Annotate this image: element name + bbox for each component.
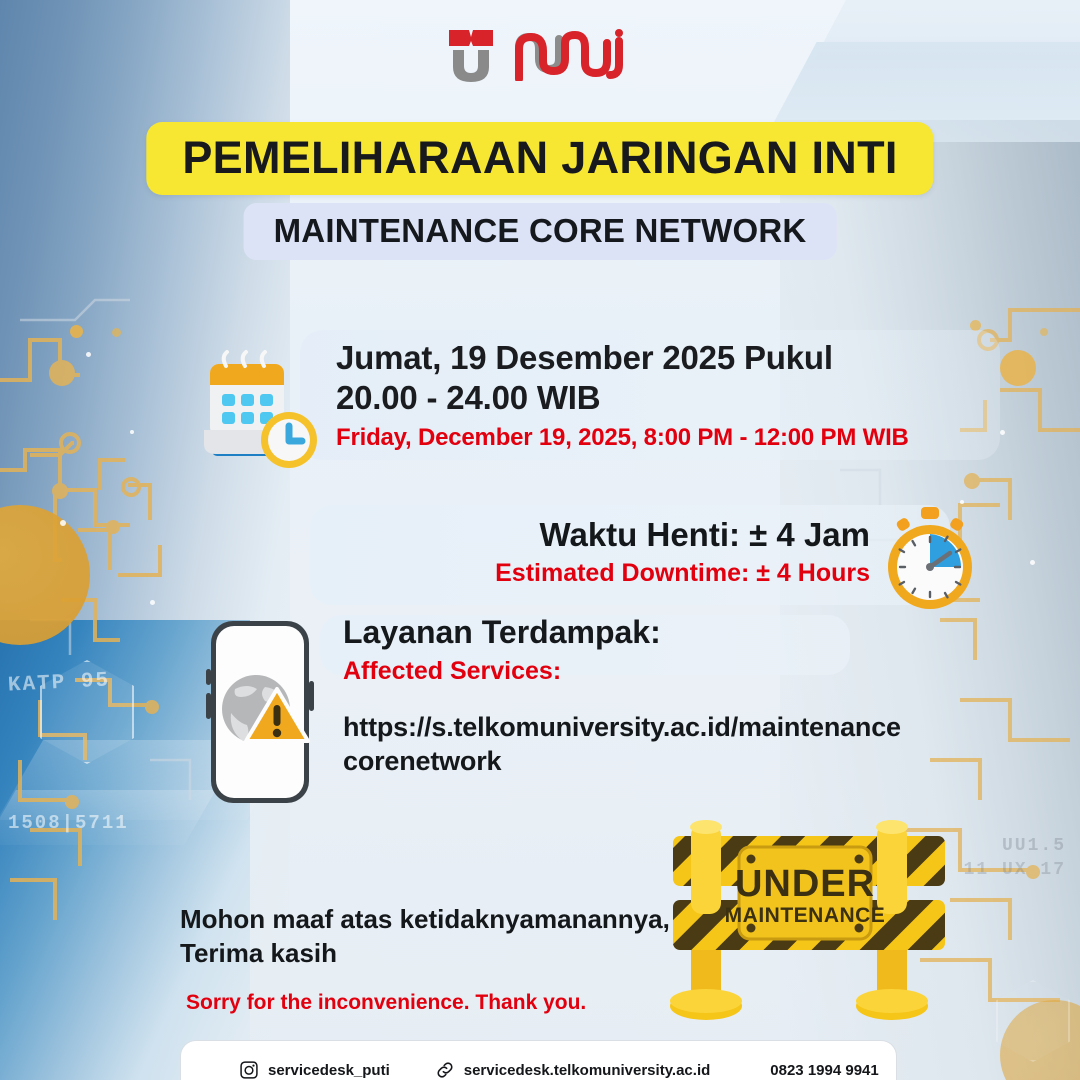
background-speck	[1030, 560, 1035, 565]
footer-instagram[interactable]: servicedesk_puti	[239, 1060, 390, 1080]
downtime-label-en: Estimated Downtime: ± 4 Hours	[495, 558, 870, 589]
services-row: Layanan Terdampak: Affected Services: ht…	[205, 612, 995, 822]
apology-en: Sorry for the inconvenience. Thank you.	[186, 989, 700, 1016]
barrier-sign-line1: UNDER	[735, 863, 875, 905]
services-url[interactable]: https://s.telkomuniversity.ac.id/mainten…	[343, 710, 983, 779]
downtime-label-id: Waktu Henti: ± 4 Jam	[495, 515, 870, 555]
apology-block: Mohon maaf atas ketidaknyamanannya, Teri…	[180, 902, 700, 1016]
services-text: Layanan Terdampak: Affected Services: ht…	[343, 612, 983, 779]
background-texture-text: 1508|5711	[8, 812, 129, 834]
background-texture-text: UU1.5	[1002, 836, 1066, 856]
apology-id-line1: Mohon maaf atas ketidaknyamanannya,	[180, 902, 700, 936]
footer-instagram-handle: servicedesk_puti	[268, 1062, 390, 1079]
barrier-sign-line2: MAINTENANCE	[725, 904, 886, 927]
telkom-university-u-icon	[445, 26, 497, 84]
stopwatch-icon	[875, 503, 985, 613]
apology-id-line2: Terima kasih	[180, 936, 700, 970]
phone-globe-warning-icon	[205, 617, 315, 807]
calendar-clock-icon	[196, 342, 326, 472]
brand-logo	[0, 22, 1080, 88]
background-texture-text: 11 UX 17	[964, 860, 1066, 880]
schedule-text: Jumat, 19 Desember 2025 Pukul 20.00 - 24…	[336, 338, 996, 453]
schedule-date-id-line1: Jumat, 19 Desember 2025 Pukul	[336, 338, 996, 378]
downtime-row: Waktu Henti: ± 4 Jam Estimated Downtime:…	[310, 505, 980, 610]
schedule-row: Jumat, 19 Desember 2025 Pukul 20.00 - 24…	[196, 336, 996, 481]
page-subtitle: MAINTENANCE CORE NETWORK	[274, 212, 807, 249]
schedule-date-en: Friday, December 19, 2025, 8:00 PM - 12:…	[336, 423, 996, 453]
page-title-banner: PEMELIHARAAN JARINGAN INTI	[146, 122, 933, 195]
instagram-icon	[239, 1060, 259, 1080]
footer-contact-bar: servicedesk_puti servicedesk.telkomunive…	[180, 1040, 897, 1080]
background-speck	[86, 352, 91, 357]
footer-phone[interactable]: 0823 1994 9941	[770, 1062, 878, 1079]
services-url-line2: corenetwork	[343, 746, 501, 776]
footer-website[interactable]: servicedesk.telkomuniversity.ac.id	[435, 1060, 711, 1080]
page-title: PEMELIHARAAN JARINGAN INTI	[182, 132, 897, 183]
services-url-line1: https://s.telkomuniversity.ac.id/mainten…	[343, 712, 901, 742]
background-dot-large	[1000, 350, 1036, 386]
services-label-en: Affected Services:	[343, 655, 983, 688]
puti-wordmark	[511, 29, 636, 81]
background-dot	[70, 325, 83, 338]
background-speck	[60, 520, 66, 526]
background-dot	[1040, 328, 1048, 336]
services-label-id: Layanan Terdampak:	[343, 612, 983, 652]
schedule-date-id-line2: 20.00 - 24.00 WIB	[336, 378, 996, 418]
background-speck	[150, 600, 155, 605]
link-icon	[435, 1060, 455, 1080]
poster-canvas: KATP 95 1508|5711 UU1.5 11 UX 17 PEMELIH…	[0, 0, 1080, 1080]
page-subtitle-banner: MAINTENANCE CORE NETWORK	[244, 203, 837, 260]
footer-website-url: servicedesk.telkomuniversity.ac.id	[464, 1062, 711, 1079]
under-maintenance-barrier-icon: UNDER MAINTENANCE	[655, 818, 975, 1033]
background-dot	[112, 328, 121, 337]
background-speck	[1000, 430, 1005, 435]
footer-phone-number: 0823 1994 9941	[770, 1062, 878, 1079]
background-speck	[130, 430, 134, 434]
downtime-text: Waktu Henti: ± 4 Jam Estimated Downtime:…	[495, 515, 870, 589]
